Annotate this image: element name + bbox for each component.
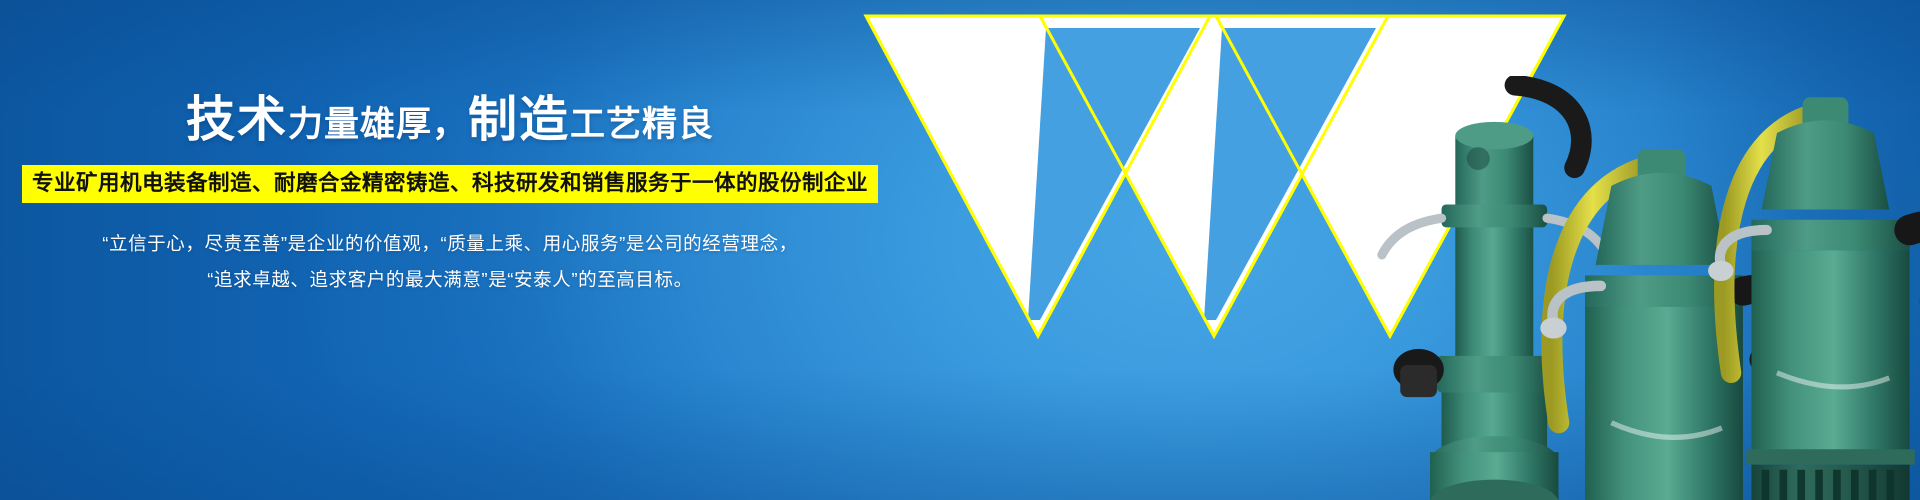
submersible-pump-3 <box>1288 82 1920 500</box>
paragraph-line-1: “立信于心，尽责至善”是企业的价值观，“质量上乘、用心服务”是公司的经营理念， <box>0 226 900 262</box>
headline-segment-1: 技术 <box>186 93 288 147</box>
banner-text-block: 技术力量雄厚，制造工艺精良 专业矿用机电装备制造、耐磨合金精密铸造、科技研发和销… <box>0 96 900 298</box>
highlight-bar: 专业矿用机电装备制造、耐磨合金精密铸造、科技研发和销售服务于一体的股份制企业 <box>22 165 878 203</box>
headline-segment-4: 工艺精良 <box>570 105 714 144</box>
promotional-banner: 技术力量雄厚，制造工艺精良 专业矿用机电装备制造、耐磨合金精密铸造、科技研发和销… <box>0 0 1920 500</box>
description-paragraph: “立信于心，尽责至善”是企业的价值观，“质量上乘、用心服务”是公司的经营理念， … <box>0 226 900 298</box>
headline-segment-2: 力量雄厚， <box>288 105 468 144</box>
headline-segment-3: 制造 <box>468 93 570 147</box>
headline: 技术力量雄厚，制造工艺精良 <box>0 96 900 145</box>
paragraph-line-2: “追求卓越、追求客户的最大满意”是“安泰人”的至高目标。 <box>0 262 900 298</box>
product-graphic <box>840 0 1920 500</box>
